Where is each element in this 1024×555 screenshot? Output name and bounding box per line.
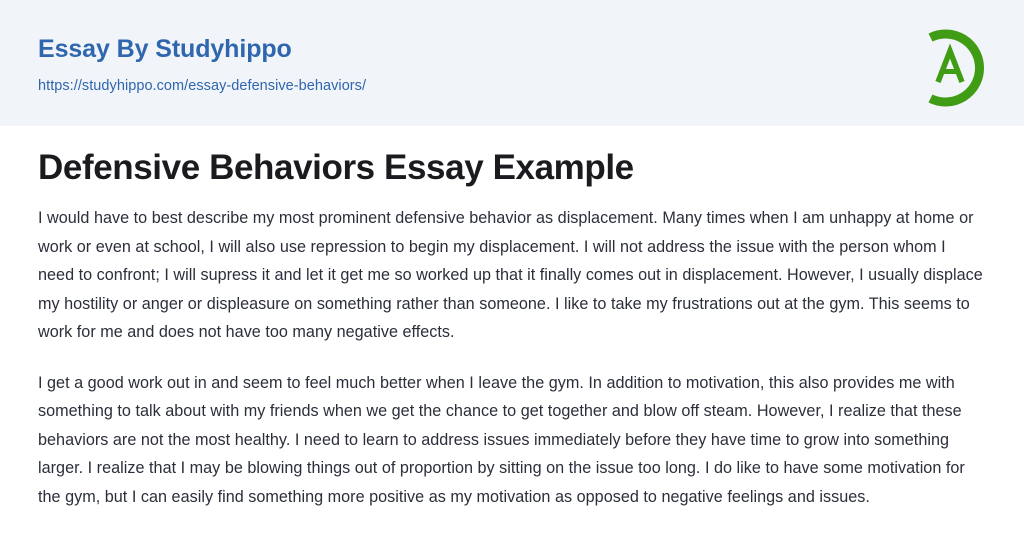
brand-title: Essay By Studyhippo <box>38 34 988 64</box>
site-header: Essay By Studyhippo https://studyhippo.c… <box>0 0 1024 126</box>
article-paragraph: I would have to best describe my most pr… <box>38 204 986 347</box>
page-title: Defensive Behaviors Essay Example <box>38 146 986 190</box>
article-paragraph: I get a good work out in and seem to fee… <box>38 369 986 512</box>
circle-a-logo-icon <box>904 22 996 114</box>
source-url-link[interactable]: https://studyhippo.com/essay-defensive-b… <box>38 77 988 96</box>
page-root: Essay By Studyhippo https://studyhippo.c… <box>0 0 1024 555</box>
article-body: I would have to best describe my most pr… <box>38 204 986 511</box>
article: Defensive Behaviors Essay Example I woul… <box>0 126 1024 511</box>
